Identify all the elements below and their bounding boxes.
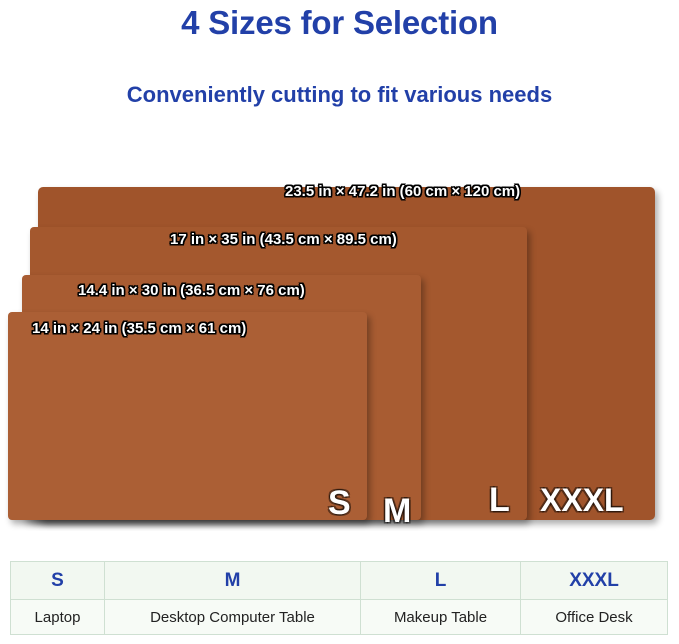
dimension-label-m: 14.4 in × 30 in (36.5 cm × 76 cm) bbox=[78, 282, 305, 299]
mat-s bbox=[8, 312, 367, 520]
product-size-infographic: 4 Sizes for Selection Conveniently cutti… bbox=[0, 0, 679, 644]
size-usage-table: S Laptop M Desktop Computer Table L Make… bbox=[10, 561, 668, 635]
table-header-l: L bbox=[361, 562, 520, 600]
mat-size-illustration: 23.5 in × 47.2 in (60 cm × 120 cm) 17 in… bbox=[0, 165, 679, 545]
table-value-m: Desktop Computer Table bbox=[105, 600, 360, 634]
table-column-m: M Desktop Computer Table bbox=[105, 562, 361, 634]
dimension-label-xxxl: 23.5 in × 47.2 in (60 cm × 120 cm) bbox=[285, 183, 520, 200]
table-column-l: L Makeup Table bbox=[361, 562, 521, 634]
dimension-label-l: 17 in × 35 in (43.5 cm × 89.5 cm) bbox=[170, 231, 397, 248]
size-tag-s: S bbox=[328, 484, 351, 523]
table-header-m: M bbox=[105, 562, 360, 600]
table-column-s: S Laptop bbox=[11, 562, 105, 634]
table-value-xxxl: Office Desk bbox=[521, 600, 667, 634]
table-header-xxxl: XXXL bbox=[521, 562, 667, 600]
size-tag-xxxl: XXXL bbox=[540, 482, 624, 519]
table-header-s: S bbox=[11, 562, 104, 600]
size-tag-l: L bbox=[489, 481, 510, 520]
page-title: 4 Sizes for Selection bbox=[0, 4, 679, 42]
table-column-xxxl: XXXL Office Desk bbox=[521, 562, 667, 634]
table-value-s: Laptop bbox=[11, 600, 104, 634]
page-subtitle: Conveniently cutting to fit various need… bbox=[0, 82, 679, 108]
size-tag-m: M bbox=[383, 492, 411, 531]
dimension-label-s: 14 in × 24 in (35.5 cm × 61 cm) bbox=[32, 320, 246, 337]
table-value-l: Makeup Table bbox=[361, 600, 520, 634]
